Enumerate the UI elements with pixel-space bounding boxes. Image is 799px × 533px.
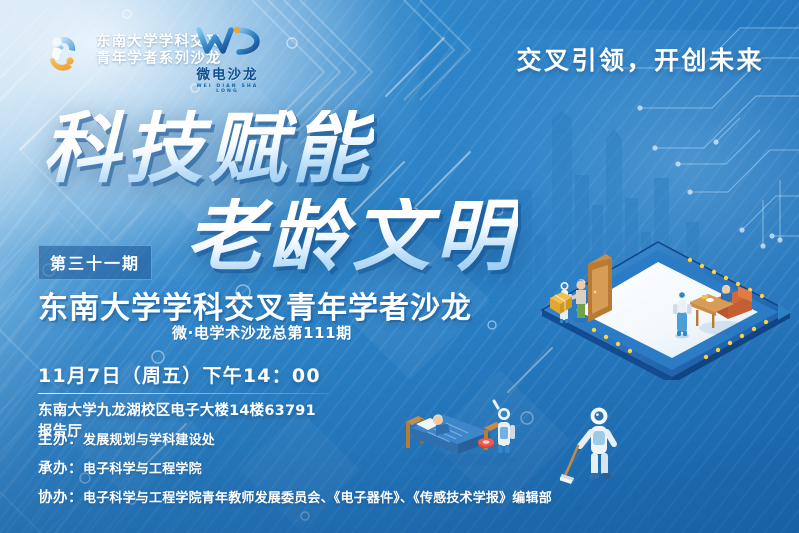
organizer-name: 电子科学与工程学院青年教师发展委员会、《电子器件》、《传感技术学报》编辑部: [83, 487, 552, 506]
event-datetime: 11月7日（周五）下午14：00: [38, 361, 328, 388]
poster-header: 东南大学学科交叉 青年学者系列沙龙 微电沙龙 WEI DIAN SHA LONG: [0, 0, 799, 100]
poster-slogan: 交叉引领，开创未来: [516, 41, 764, 77]
care-robot-figure: [494, 401, 515, 457]
wd-logo-cn: 微电沙龙: [185, 63, 270, 83]
organizer-row-coorganizer: 协办： 电子科学与工程学院青年教师发展委员会、《电子器件》、《传感技术学报》编辑…: [38, 486, 552, 507]
wd-monogram-logo-icon: [185, 24, 270, 58]
door-delivery-scene: [588, 254, 612, 322]
wd-logo-pinyin: WEI DIAN SHA LONG: [185, 84, 270, 94]
robot-cleaning-scene: [560, 400, 635, 490]
isometric-chip-scene: [540, 240, 799, 380]
event-poster: 东南大学学科交叉 青年学者系列沙龙 微电沙龙 WEI DIAN SHA LONG: [0, 0, 799, 533]
series-subtitle-secondary: 微·电学术沙龙总第111期: [172, 322, 352, 343]
main-title-line1: 科技赋能: [42, 110, 374, 188]
organizer-role: 主办：: [38, 428, 83, 449]
event-divider: [38, 393, 328, 394]
series-subtitle: 东南大学学科交叉青年学者沙龙: [38, 283, 472, 327]
wd-logo: 微电沙龙 WEI DIAN SHA LONG: [185, 24, 270, 82]
episode-badge: 第三十一期: [38, 245, 152, 280]
organizer-role: 协办：: [38, 486, 83, 507]
seu-salon-figure-logo-icon: [40, 28, 86, 74]
robot-bedside-care-scene: [398, 392, 538, 467]
organizer-name: 电子科学与工程学院: [83, 458, 202, 477]
organizer-role: 承办：: [38, 457, 83, 478]
main-title-line2: 老龄文明: [186, 198, 518, 276]
organizer-name: 发展规划与学科建设处: [83, 429, 215, 448]
